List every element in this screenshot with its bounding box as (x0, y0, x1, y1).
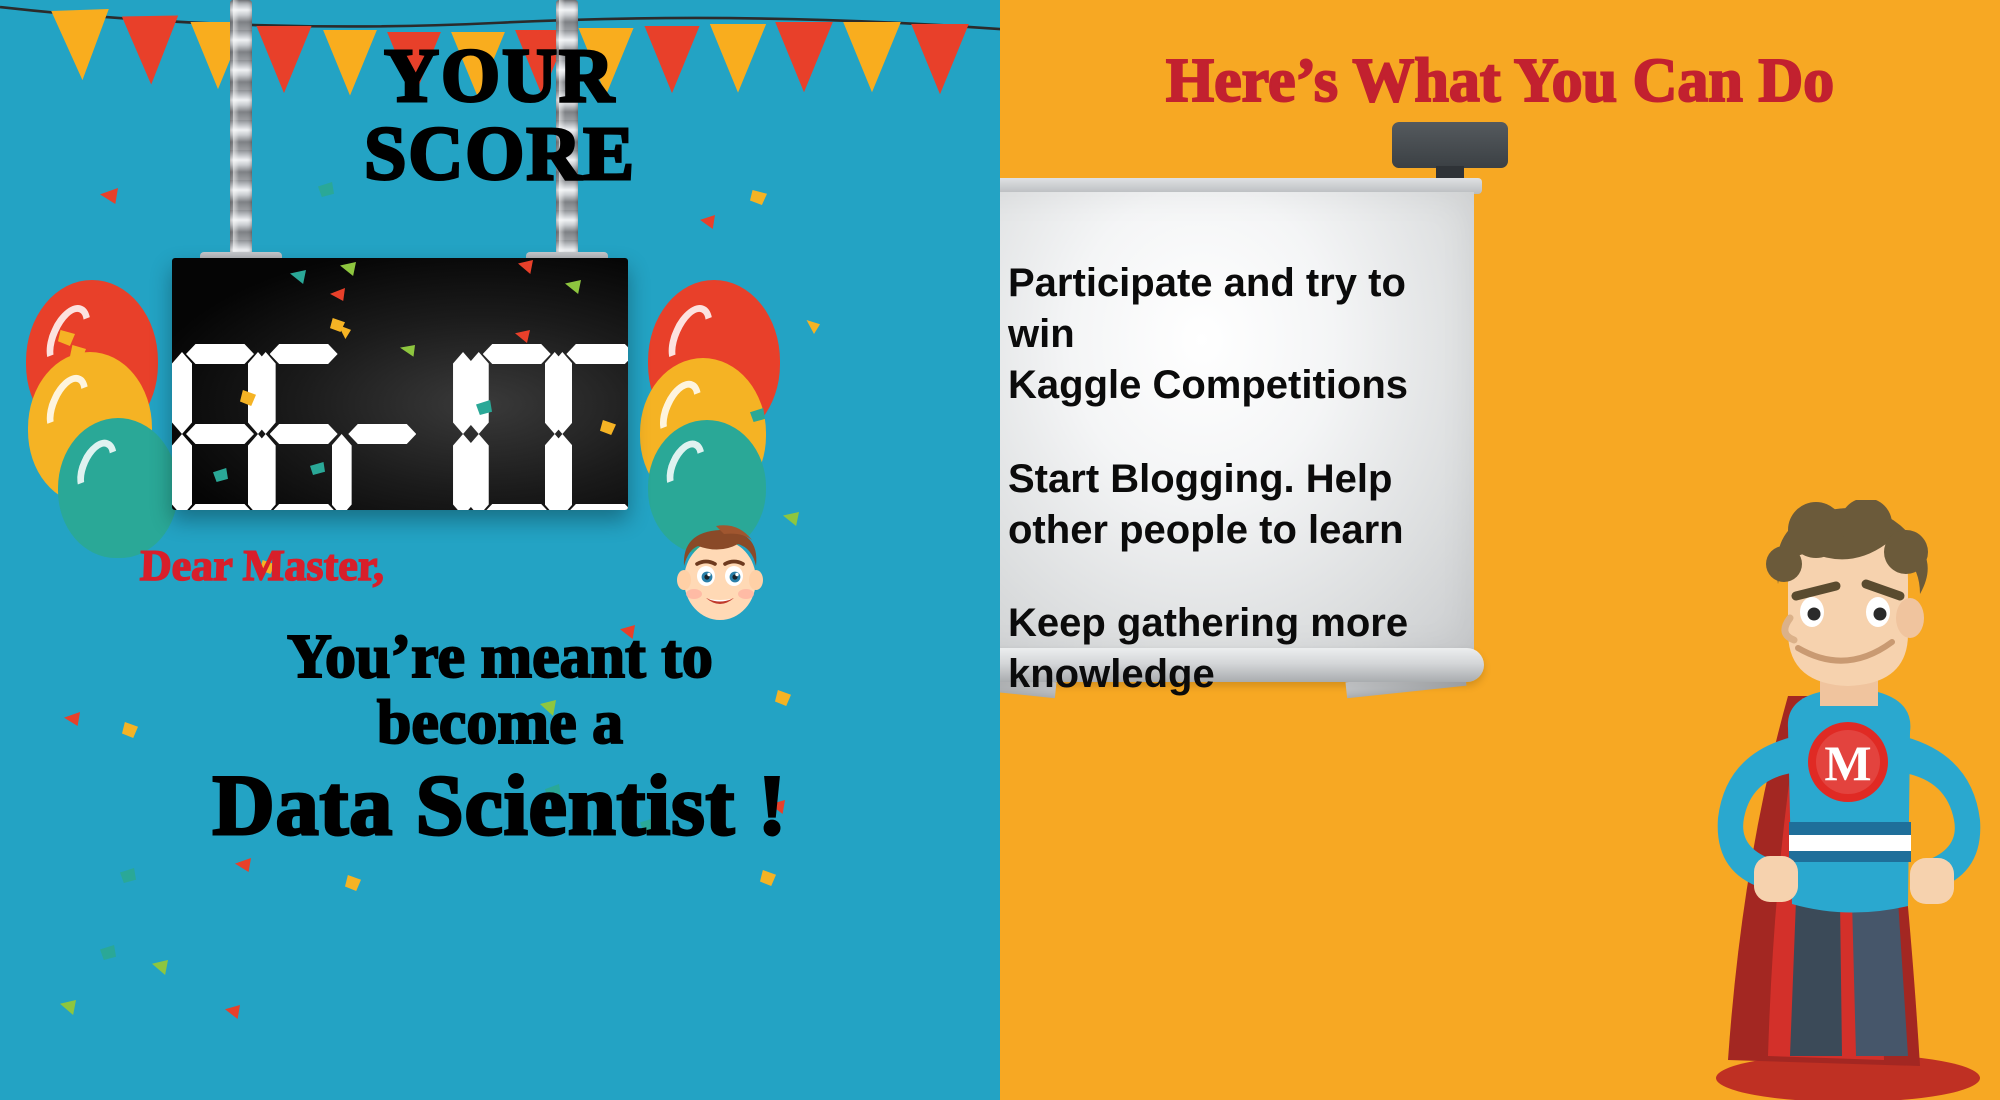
title-line-1: YOUR (0, 38, 1000, 116)
digit-1 (415, 344, 461, 510)
poster-root: YOUR SCORE (0, 0, 2000, 1100)
boy-face-avatar (668, 518, 772, 628)
right-panel-actions: Here’s What You Can Do 1. Participate an… (1000, 0, 2000, 1100)
screen-top-housing (1392, 122, 1508, 168)
balloon-teal-left (58, 418, 178, 558)
digit-0 (552, 344, 628, 510)
page-title: YOUR SCORE (0, 38, 1000, 193)
list-item-line: Keep gathering more (1008, 598, 1408, 649)
digit-8 (172, 344, 248, 510)
list-item-number: 3. (1000, 598, 1008, 700)
list-item-line: Participate and try to win (1008, 258, 1452, 360)
list-item[interactable]: 3. Keep gathering more knowledge (1000, 598, 1452, 700)
balloon-shine (659, 434, 712, 499)
action-list: 1. Participate and try to win Kaggle Com… (1000, 258, 1452, 742)
list-item-line: other people to learn (1008, 505, 1404, 556)
list-item-line: Kaggle Competitions (1008, 360, 1452, 411)
list-item-number: 1. (1000, 258, 1008, 412)
message-line-2: become a (0, 691, 1000, 757)
list-item-line: knowledge (1008, 649, 1408, 700)
message-line-1: You’re meant to (0, 625, 1000, 691)
list-item-text: Start Blogging. Help other people to lea… (1008, 454, 1404, 556)
digit-6 (256, 344, 332, 510)
score-display-board: 86-100 (172, 258, 628, 510)
salutation-text: Dear Master, (139, 540, 385, 591)
list-item-number: 2. (1000, 454, 1008, 556)
list-item[interactable]: 2. Start Blogging. Help other people to … (1000, 454, 1452, 556)
list-item[interactable]: 1. Participate and try to win Kaggle Com… (1000, 258, 1452, 412)
balloon-shine (69, 433, 124, 500)
svg-text:M: M (1824, 735, 1871, 791)
list-item-text: Keep gathering more knowledge (1008, 598, 1408, 700)
right-panel-title: Here’s What You Can Do (1000, 46, 2000, 117)
list-item-text: Participate and try to win Kaggle Compet… (1008, 258, 1452, 412)
title-line-2: SCORE (0, 116, 1000, 194)
left-panel-score: YOUR SCORE (0, 0, 1000, 1100)
digit-dash (339, 344, 407, 510)
digit-0 (469, 344, 545, 510)
list-item-line: Start Blogging. Help (1008, 454, 1404, 505)
message-line-3: Data Scientist ! (0, 755, 1000, 855)
seven-segment-digits (172, 344, 628, 510)
superhero-mascot: M (1670, 500, 2000, 1100)
message-block: You’re meant to become a (0, 625, 1000, 756)
